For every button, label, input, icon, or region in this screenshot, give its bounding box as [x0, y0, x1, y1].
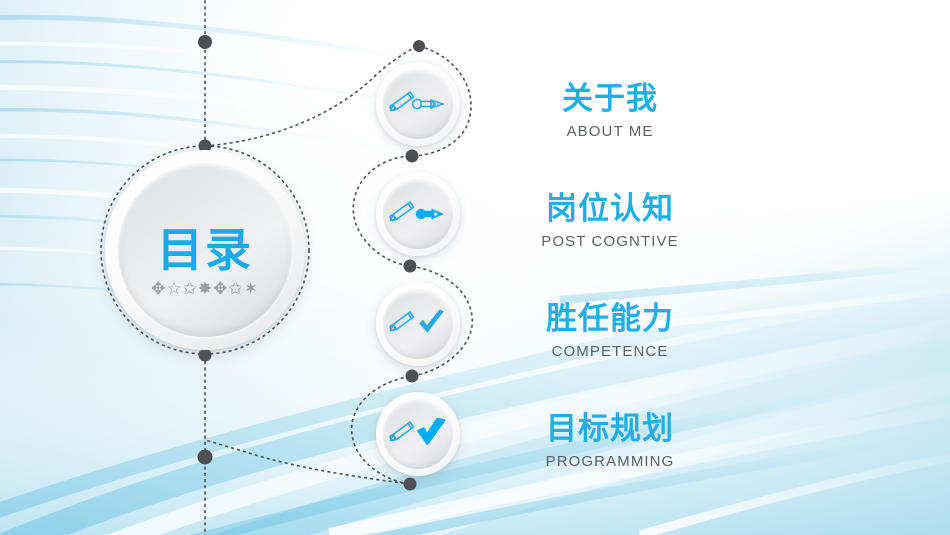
pencil-and-outline-arrow-icon	[387, 89, 449, 119]
pencil-and-bold-check-icon	[387, 418, 449, 450]
pencil-and-solid-pen-nib-icon	[387, 199, 449, 229]
icon-disc-4	[383, 399, 453, 469]
decorative-stars: ✥☆✩✸✥✩✶	[151, 280, 259, 297]
toc-label-3-en: COMPETENCE	[510, 343, 710, 360]
toc-label-4-en: PROGRAMMING	[510, 453, 710, 470]
toc-icon-circle-2[interactable]	[376, 172, 460, 256]
toc-label-2-en: POST COGNTIVE	[510, 233, 710, 250]
toc-label-3-cn: 胜任能力	[510, 302, 710, 336]
toc-label-1[interactable]: 关于我 ABOUT ME	[510, 82, 710, 140]
toc-center-circle: 目录 ✥☆✩✸✥✩✶	[105, 150, 305, 350]
toc-label-2-cn: 岗位认知	[510, 192, 710, 226]
toc-label-3[interactable]: 胜任能力 COMPETENCE	[510, 302, 710, 360]
icon-disc-1	[383, 69, 453, 139]
toc-icon-circle-4[interactable]	[376, 392, 460, 476]
toc-icon-circle-1[interactable]	[376, 62, 460, 146]
toc-label-1-en: ABOUT ME	[510, 123, 710, 140]
icon-disc-2	[383, 179, 453, 249]
pencil-and-check-icon	[387, 308, 449, 340]
icon-disc-3	[383, 289, 453, 359]
toc-label-1-cn: 关于我	[510, 82, 710, 116]
page-title: 目录	[157, 227, 253, 273]
toc-label-4-cn: 目标规划	[510, 412, 710, 446]
presentation-slide: 目录 ✥☆✩✸✥✩✶ 关于我 ABOUT ME	[0, 0, 950, 535]
toc-label-4[interactable]: 目标规划 PROGRAMMING	[510, 412, 710, 470]
toc-label-2[interactable]: 岗位认知 POST COGNTIVE	[510, 192, 710, 250]
toc-icon-circle-3[interactable]	[376, 282, 460, 366]
center-circle-inner-disc: 目录 ✥☆✩✸✥✩✶	[118, 163, 292, 337]
